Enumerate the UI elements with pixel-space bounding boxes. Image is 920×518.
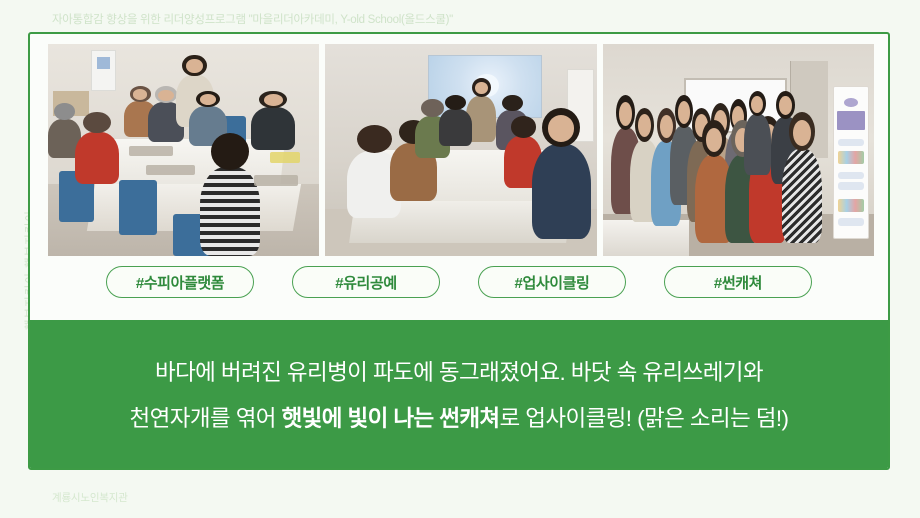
person xyxy=(744,91,771,176)
content-card: #수피아플랫폼 #유리공예 #업사이클링 #썬캐쳐 바다에 버려진 유리병이 파… xyxy=(28,32,890,470)
banner-row xyxy=(838,218,865,226)
photo-strip xyxy=(48,44,874,256)
group-photo xyxy=(603,44,874,256)
craft-materials xyxy=(270,152,300,163)
caption-line-1: 바다에 버려진 유리병이 파도에 동그래졌어요. 바닷 속 유리쓰레기와 xyxy=(155,355,763,387)
tag-pill[interactable]: #수피아플랫폼 xyxy=(106,266,254,298)
workshop-discussion-photo xyxy=(48,44,319,256)
caption-line-2-post: 로 업사이클링! (맑은 소리는 덤!) xyxy=(500,406,789,431)
tag-pill[interactable]: #유리공예 xyxy=(292,266,440,298)
person xyxy=(782,112,823,243)
person xyxy=(200,133,260,256)
chair xyxy=(119,180,157,235)
footer-organization-note: 계룡시노인복지관 xyxy=(52,490,128,505)
rollup-banner xyxy=(833,86,868,239)
person xyxy=(439,95,472,146)
banner-row xyxy=(838,172,865,180)
caption-band: 바다에 버려진 유리병이 파도에 동그래졌어요. 바닷 속 유리쓰레기와 천연자… xyxy=(30,320,888,468)
wall-poster xyxy=(91,50,115,90)
caption-line-2-pre: 천연자개를 엮어 xyxy=(130,406,282,431)
photo-scene xyxy=(603,44,874,256)
header-program-note: 자아통합감 향상을 위한 리더양성프로그램 "마을리더아카데미, Y-old S… xyxy=(52,11,453,27)
craft-materials xyxy=(129,146,172,157)
caption-line-2: 천연자개를 엮어 햇빛에 빛이 나는 썬캐쳐로 업사이클링! (맑은 소리는 덤… xyxy=(130,401,789,433)
tag-pill[interactable]: #업사이클링 xyxy=(478,266,626,298)
banner-emblem xyxy=(844,98,857,107)
photo-scene xyxy=(325,44,596,256)
craft-materials xyxy=(254,175,297,186)
banner-row xyxy=(838,139,865,147)
tag-list: #수피아플랫폼 #유리공예 #업사이클링 #썬캐쳐 xyxy=(30,266,888,298)
banner-title xyxy=(837,111,865,129)
banner-row xyxy=(838,182,865,190)
person xyxy=(532,108,592,239)
photo-scene xyxy=(48,44,319,256)
craft-session-photo xyxy=(325,44,596,256)
banner-icon-row xyxy=(838,199,863,213)
tag-pill[interactable]: #썬캐쳐 xyxy=(664,266,812,298)
caption-line-2-emphasis: 햇빛에 빛이 나는 썬캐쳐 xyxy=(282,406,500,431)
banner-icon-row xyxy=(838,151,863,165)
craft-materials xyxy=(146,165,195,176)
poster-page: 자아통합감 향상을 위한 리더양성프로그램 "마을리더아카데미, Y-old S… xyxy=(0,0,920,518)
person xyxy=(75,112,118,184)
